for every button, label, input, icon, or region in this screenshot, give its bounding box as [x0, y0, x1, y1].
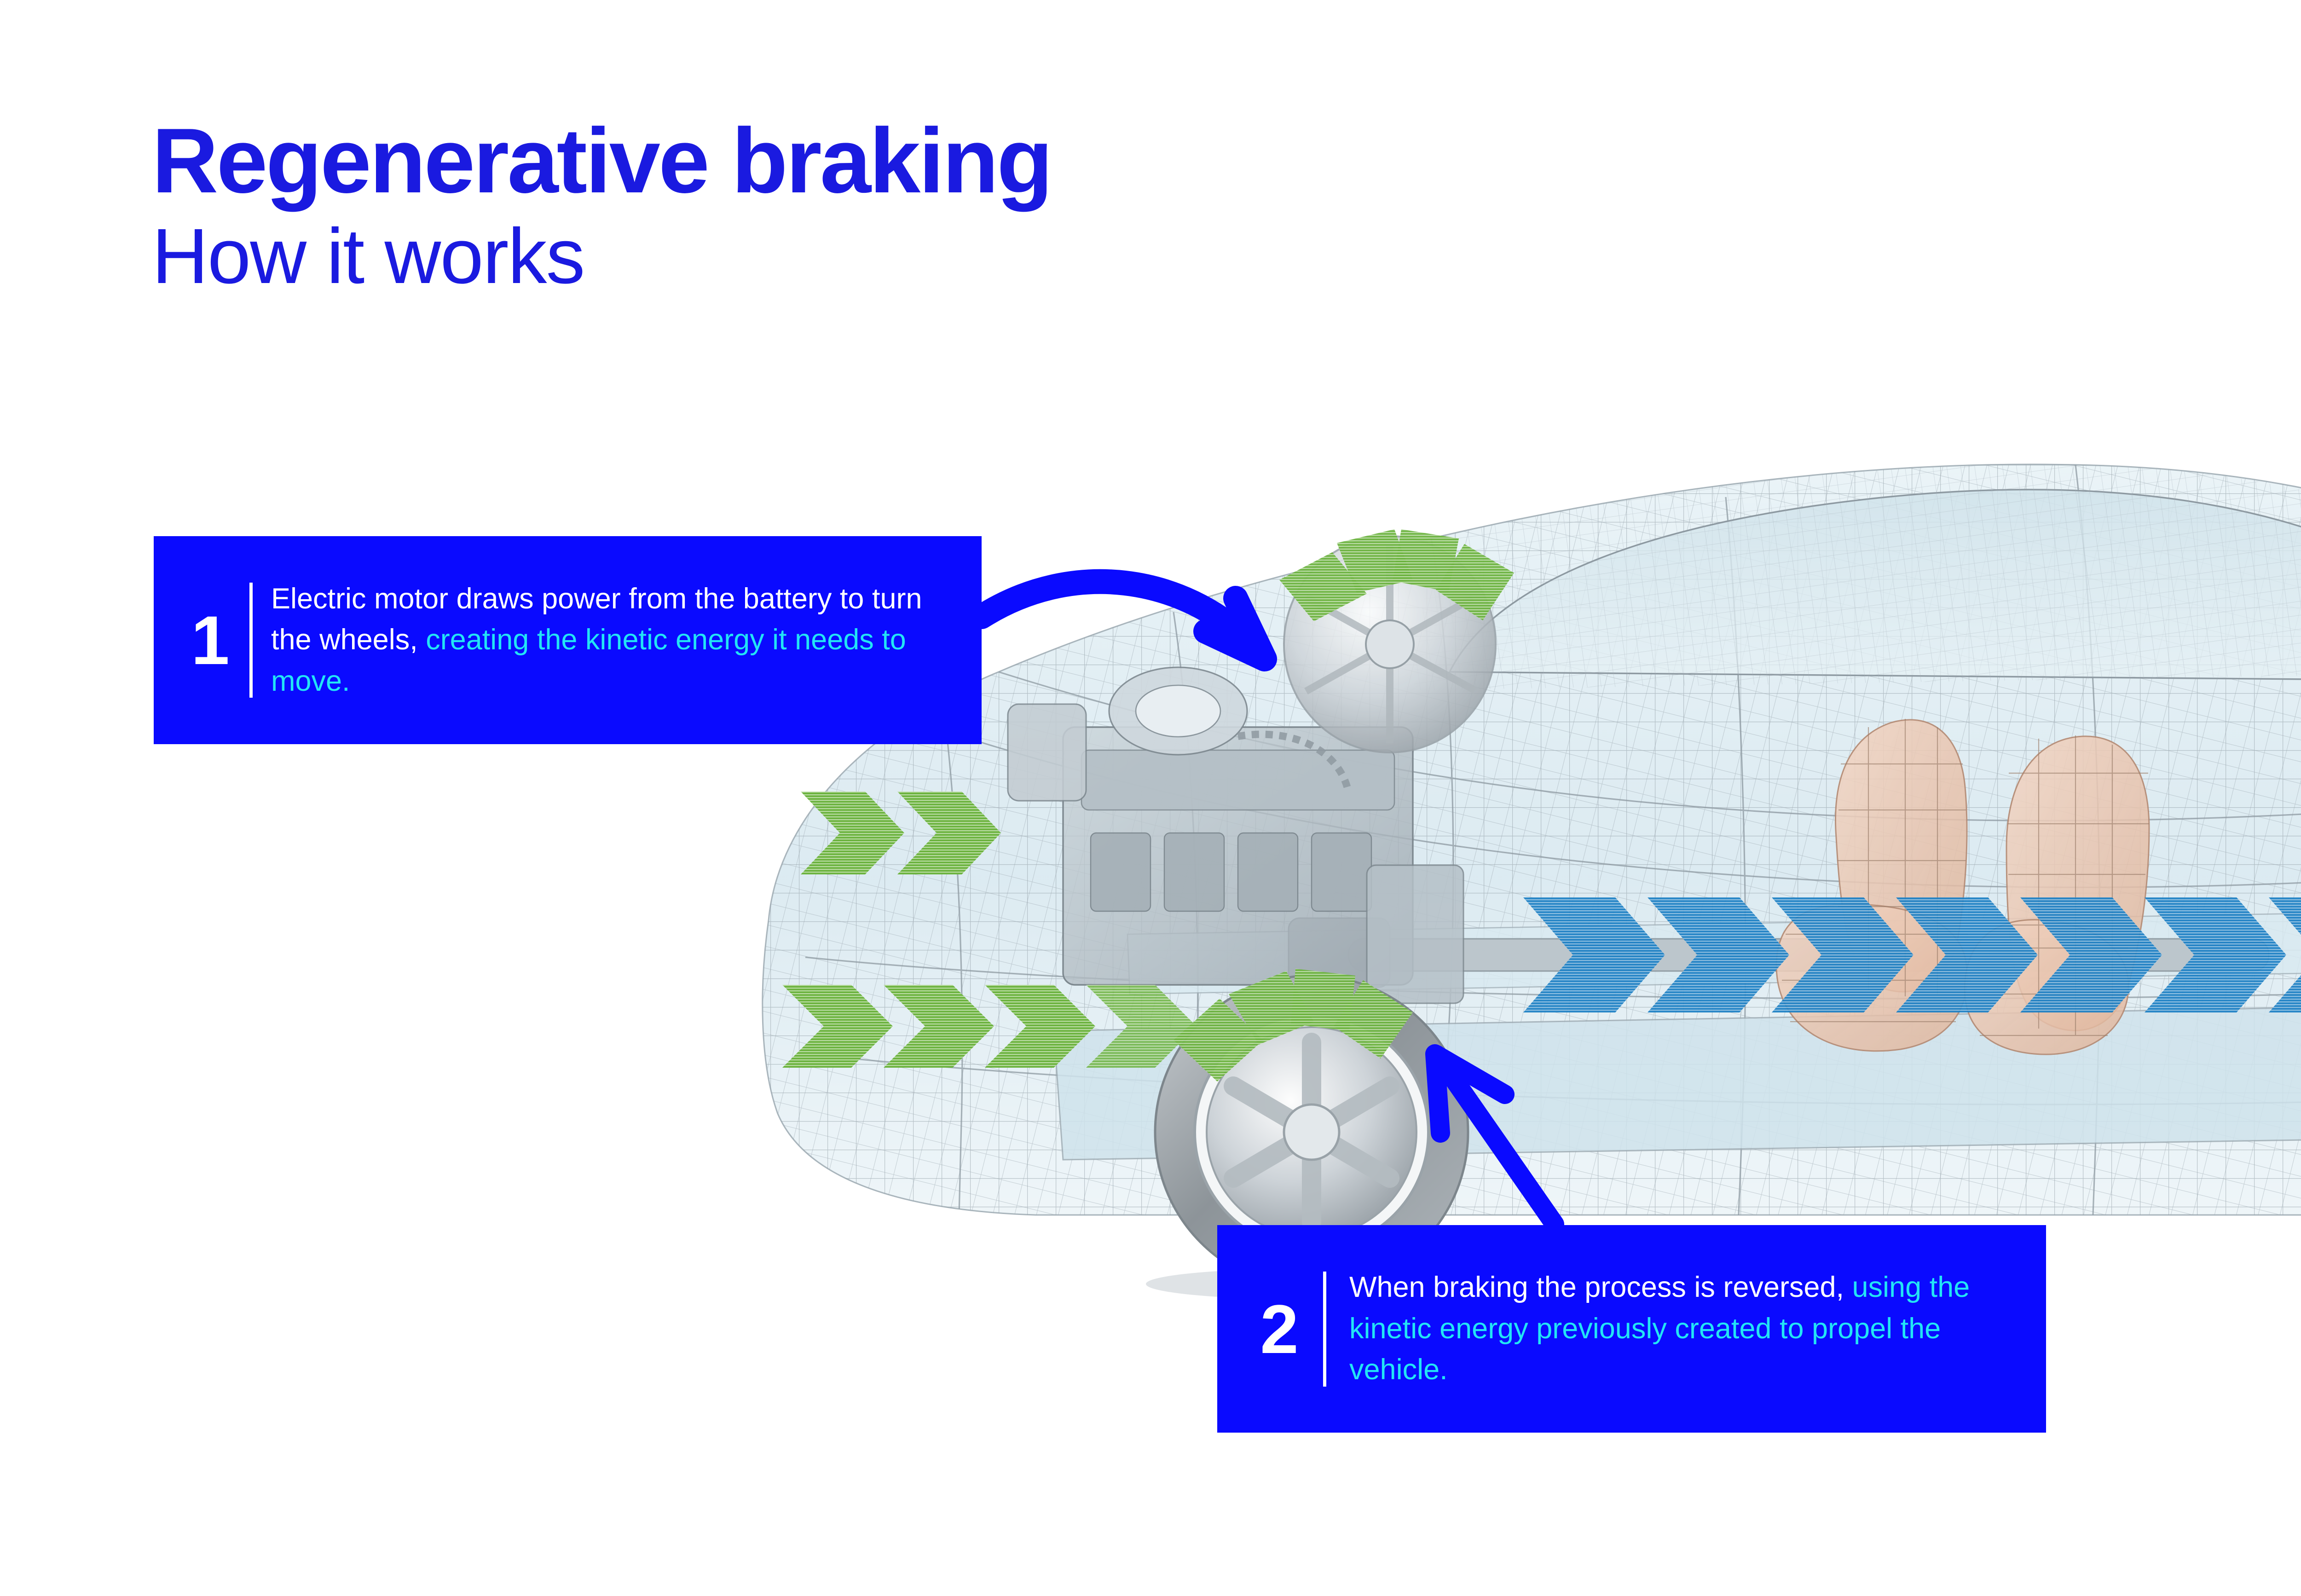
page-title: Regenerative braking How it works	[152, 115, 1051, 302]
callout-1-number: 1	[176, 606, 245, 675]
infographic-canvas: 1 Electric motor draws power from the ba…	[0, 0, 2301, 1596]
callout-box-2[interactable]: 2 When braking the process is reversed, …	[1217, 1225, 2046, 1433]
callout-2-text-white: When braking the process is reversed,	[1349, 1271, 1852, 1303]
callout-1-divider	[249, 583, 253, 698]
callout-1-body: Electric motor draws power from the batt…	[271, 578, 963, 702]
callout-2-body: When braking the process is reversed, us…	[1349, 1267, 2028, 1390]
callout-2-number: 2	[1245, 1295, 1314, 1364]
title-line-1: Regenerative braking	[152, 115, 1051, 207]
callout-2-divider	[1323, 1272, 1326, 1387]
callout-box-1[interactable]: 1 Electric motor draws power from the ba…	[154, 536, 982, 744]
title-line-2: How it works	[152, 212, 1051, 302]
